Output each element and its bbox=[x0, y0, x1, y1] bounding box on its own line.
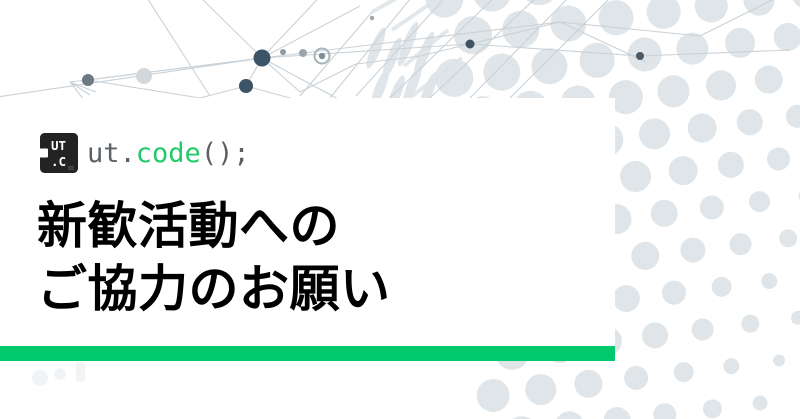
network-lines bbox=[0, 0, 790, 100]
headline-line-1: 新歓活動への bbox=[37, 195, 391, 258]
headline-line-2: ご協力のお願い bbox=[37, 258, 391, 321]
accent-bar bbox=[0, 346, 615, 361]
logo-top-text: UT bbox=[51, 138, 66, 153]
brand-lockup: UT .C ut.code(); bbox=[40, 134, 250, 172]
ut-code-logo-icon: UT .C bbox=[40, 133, 78, 173]
page-title: 新歓活動への ご協力のお願い bbox=[37, 195, 391, 321]
banner-root: UT .C ut.code(); 新歓活動への ご協力のお願い bbox=[0, 0, 800, 419]
wordmark-highlight: code bbox=[136, 140, 201, 167]
network-nodes bbox=[82, 16, 644, 93]
wordmark-prefix: ut. bbox=[87, 140, 136, 167]
wordmark-suffix: (); bbox=[201, 140, 250, 167]
logo-bottom-text: .C bbox=[51, 154, 66, 169]
stripe-pattern bbox=[372, 0, 462, 96]
content-area: UT .C ut.code(); 新歓活動への ご協力のお願い bbox=[0, 98, 615, 419]
wordmark: ut.code(); bbox=[87, 140, 250, 167]
